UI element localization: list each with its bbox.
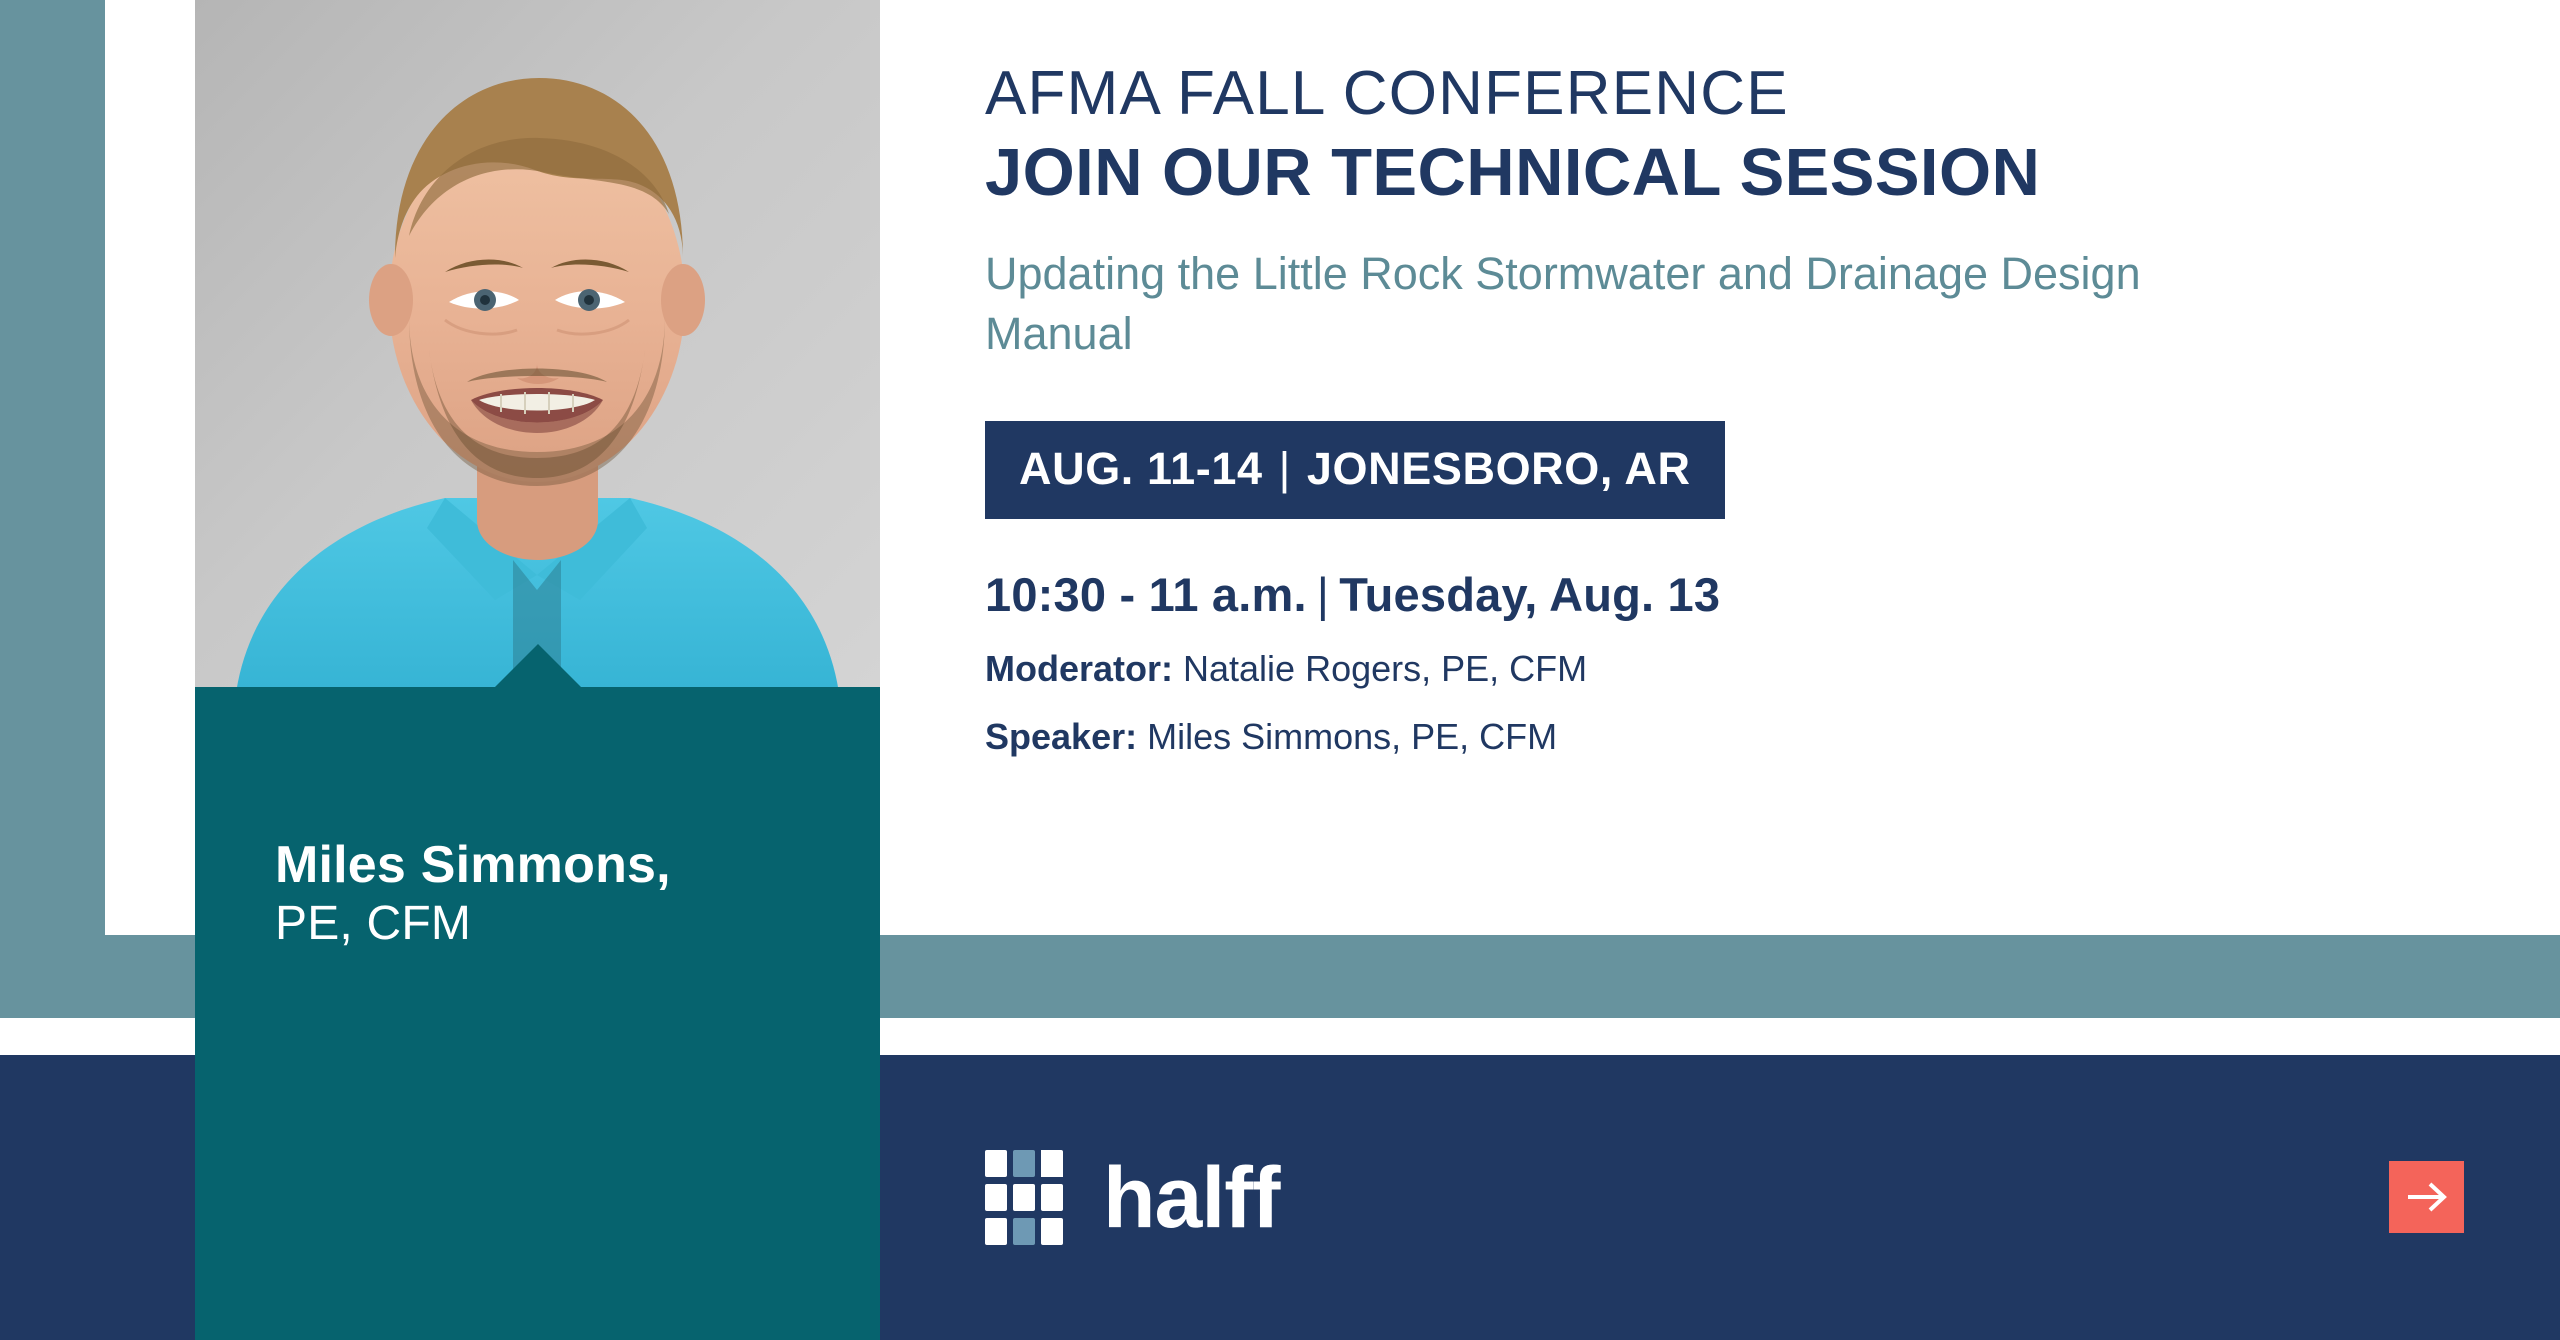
conference-dates: AUG. 11-14 (1019, 443, 1263, 494)
time-separator: | (1307, 567, 1339, 622)
arrow-right-icon (2405, 1180, 2449, 1214)
session-subtitle: Updating the Little Rock Stormwater and … (985, 244, 2235, 363)
main-content: AFMA FALL CONFERENCE JOIN OUR TECHNICAL … (985, 0, 2505, 758)
speaker-name: Miles Simmons, (275, 835, 880, 896)
date-separator: | (1263, 443, 1307, 495)
halff-wordmark: halff (1103, 1155, 1280, 1241)
moderator-label: Moderator: (985, 648, 1173, 689)
speaker-portrait-photo (195, 0, 880, 700)
halff-logo: halff (985, 1150, 1280, 1245)
conference-eyebrow: AFMA FALL CONFERENCE (985, 62, 2505, 126)
speaker-credit: Speaker: Miles Simmons, PE, CFM (985, 716, 2505, 758)
date-location-banner: AUG. 11-14|JONESBORO, AR (985, 421, 1725, 519)
conference-location: JONESBORO, AR (1307, 443, 1691, 494)
cta-arrow-button[interactable] (2389, 1161, 2464, 1233)
session-time: 10:30 - 11 a.m. (985, 568, 1307, 621)
speaker-name-panel: Miles Simmons, PE, CFM (195, 640, 880, 1340)
promo-graphic: Miles Simmons, PE, CFM AFMA FALL CONFERE… (0, 0, 2560, 1340)
session-time-row: 10:30 - 11 a.m.|Tuesday, Aug. 13 (985, 567, 2505, 622)
headline: JOIN OUR TECHNICAL SESSION (985, 138, 2505, 208)
speaker-label: Speaker: (985, 716, 1137, 757)
halff-grid-icon (985, 1150, 1063, 1245)
moderator-credit: Moderator: Natalie Rogers, PE, CFM (985, 648, 2505, 690)
left-accent-band (0, 0, 105, 1018)
speaker-name-text: Miles Simmons, PE, CFM (1147, 716, 1557, 757)
moderator-name: Natalie Rogers, PE, CFM (1183, 648, 1587, 689)
speaker-credentials: PE, CFM (275, 896, 880, 953)
session-day: Tuesday, Aug. 13 (1339, 568, 1720, 621)
